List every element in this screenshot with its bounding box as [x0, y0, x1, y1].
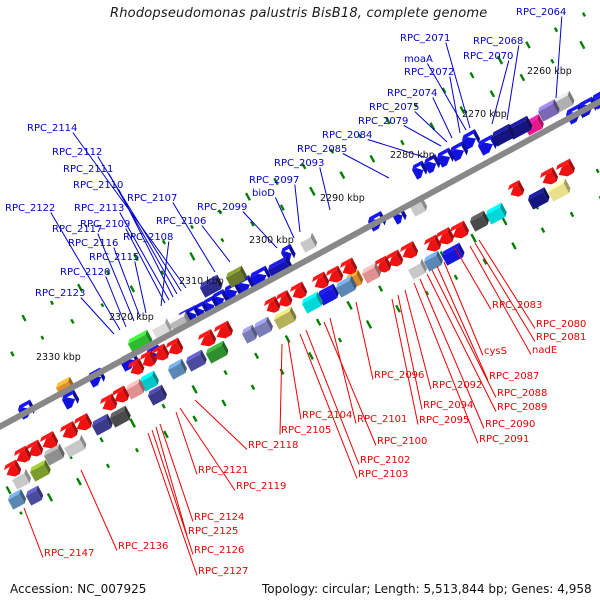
tick-mark	[521, 74, 524, 80]
leader-line	[444, 262, 483, 356]
reverse-gene-label[interactable]: RPC_2147	[44, 548, 94, 559]
reverse-gene-glyph[interactable]	[184, 350, 208, 372]
scale-marker-label: 2320 kbp	[109, 312, 154, 323]
scale-marker-label: 2260 kbp	[527, 66, 572, 77]
leader-line	[280, 344, 282, 435]
tick-mark	[252, 385, 254, 390]
forward-gene-label[interactable]: RPC_2079	[358, 116, 408, 127]
forward-gene-label[interactable]: RPC_2117	[52, 224, 102, 235]
leader-line	[148, 433, 197, 576]
leader-line	[275, 198, 294, 239]
scale-marker-label: 2290 kbp	[320, 193, 365, 204]
leader-line	[479, 240, 535, 329]
leader-line	[415, 112, 447, 143]
tick-mark	[526, 42, 529, 48]
tick-mark	[491, 91, 494, 97]
leader-line	[288, 340, 301, 420]
tick-mark	[107, 464, 109, 468]
tick-mark	[163, 404, 165, 408]
tick-mark	[512, 243, 515, 249]
tick-mark	[503, 218, 507, 225]
tick-mark	[341, 172, 345, 179]
reverse-gene-glyph[interactable]	[98, 394, 119, 414]
forward-gene-label[interactable]: RPC_2115	[89, 252, 139, 263]
tick-mark	[255, 353, 258, 359]
forward-gene-label[interactable]: RPC_2114	[27, 123, 77, 134]
reverse-gene-label[interactable]: RPC_2103	[358, 469, 408, 480]
tick-mark	[131, 286, 134, 292]
forward-gene-label[interactable]: RPC_2070	[463, 51, 513, 62]
tick-mark	[222, 400, 225, 406]
scale-marker-label: 2330 kbp	[36, 352, 81, 363]
tick-mark	[597, 169, 599, 172]
reverse-gene-label[interactable]: RPC_2127	[198, 566, 248, 577]
leader-line	[24, 508, 43, 558]
leader-line	[556, 17, 562, 99]
reverse-gene-label[interactable]: RPC_2080	[536, 319, 586, 330]
scale-marker-label: 2310 kbp	[179, 276, 224, 287]
tick-mark	[51, 301, 53, 305]
leader-line	[300, 334, 357, 479]
reverse-gene-label[interactable]: RPC_2090	[485, 419, 535, 430]
accession-text: Accession: NC_007925	[10, 582, 146, 596]
tick-mark	[224, 371, 226, 375]
tick-mark	[22, 315, 25, 321]
tick-mark	[41, 336, 43, 339]
reverse-gene-label[interactable]: RPC_2092	[432, 380, 482, 391]
reverse-gene-label[interactable]: RPC_2100	[377, 436, 427, 447]
reverse-gene-label[interactable]: cysS	[484, 346, 507, 357]
tick-mark	[551, 59, 553, 63]
genome-summary-text: Topology: circular; Length: 5,513,844 bp…	[262, 582, 592, 596]
reverse-gene-label[interactable]: RPC_2091	[479, 434, 529, 445]
reverse-gene-label[interactable]: RPC_2094	[423, 400, 473, 411]
reverse-gene-label[interactable]: RPC_2119	[236, 481, 286, 492]
forward-gene-label[interactable]: RPC_2120	[60, 267, 110, 278]
tick-mark	[193, 416, 196, 422]
reverse-gene-label[interactable]: RPC_2101	[357, 414, 407, 425]
tick-mark	[317, 319, 320, 325]
tick-mark	[246, 193, 250, 200]
leader-line	[356, 302, 373, 380]
leader-line	[343, 154, 389, 179]
reverse-gene-label[interactable]: RPC_2104	[302, 410, 352, 421]
reverse-gene-label[interactable]: RPC_2136	[118, 541, 168, 552]
forward-gene-label[interactable]: RPC_2085	[297, 144, 347, 155]
tick-mark	[583, 13, 585, 17]
reverse-gene-glyph[interactable]	[62, 435, 88, 458]
leader-line	[432, 270, 496, 398]
tick-mark	[11, 352, 13, 356]
reverse-gene-label[interactable]: RPC_2081	[536, 332, 586, 343]
reverse-gene-label[interactable]: RPC_2088	[497, 388, 547, 399]
reverse-gene-label[interactable]: RPC_2095	[419, 415, 469, 426]
forward-gene-label[interactable]: RPC_2064	[516, 7, 566, 18]
tick-mark	[102, 304, 104, 307]
tick-mark	[371, 155, 375, 162]
tick-mark	[455, 275, 457, 279]
leader-line	[330, 318, 356, 424]
reverse-gene-label[interactable]: RPC_2105	[281, 425, 331, 436]
scale-marker-label: 2300 kbp	[249, 235, 294, 246]
tick-mark	[471, 73, 474, 78]
tick-mark	[7, 487, 11, 494]
tick-mark	[190, 253, 194, 261]
reverse-gene-label[interactable]: RPC_2083	[492, 300, 542, 311]
leader-line	[156, 427, 187, 536]
forward-gene-label[interactable]: RPC_2099	[197, 202, 247, 213]
tick-mark	[555, 28, 557, 32]
tick-mark	[136, 448, 138, 452]
leader-line	[398, 295, 422, 410]
leader-line	[437, 266, 488, 381]
tick-mark	[48, 494, 52, 502]
tick-mark	[71, 319, 73, 323]
reverse-gene-label[interactable]: RPC_2102	[360, 455, 410, 466]
forward-gene-label[interactable]: moaA	[404, 54, 433, 65]
forward-gene-label[interactable]: RPC_2111	[63, 164, 113, 175]
reverse-gene-glyph[interactable]	[262, 296, 282, 316]
reverse-gene-label[interactable]: RPC_2087	[489, 371, 539, 382]
tick-mark	[347, 301, 351, 309]
reverse-gene-label[interactable]: RPC_2089	[497, 402, 547, 413]
forward-gene-label[interactable]: RPC_2075	[369, 102, 419, 113]
leader-line	[295, 185, 300, 233]
leader-line	[306, 330, 359, 465]
reverse-gene-label[interactable]: nadE	[532, 345, 557, 356]
reverse-gene-glyph[interactable]	[24, 486, 45, 506]
leader-line	[392, 299, 418, 425]
tick-mark	[193, 386, 197, 394]
forward-gene-label[interactable]: RPC_2108	[123, 232, 173, 243]
reverse-gene-label[interactable]: RPC_2125	[188, 526, 238, 537]
leader-line	[176, 412, 197, 475]
forward-gene-label[interactable]: RPC_2084	[322, 130, 372, 141]
leader-line	[135, 262, 146, 314]
forward-gene-label[interactable]: RPC_2106	[156, 216, 206, 227]
forward-gene-label[interactable]: RPC_2068	[473, 36, 523, 47]
tick-mark	[542, 228, 544, 233]
leader-line	[160, 424, 193, 522]
genome-map-viewer: Rhodopseudomonas palustris BisB18, compl…	[0, 0, 600, 600]
reverse-gene-glyph[interactable]	[422, 235, 443, 255]
forward-gene-label[interactable]: RPC_2074	[387, 88, 437, 99]
tick-mark	[367, 321, 371, 329]
tick-mark	[221, 238, 223, 241]
genome-map-canvas[interactable]: 2260 kbp2270 kbp2280 kbp2290 kbp2300 kbp…	[0, 0, 600, 600]
tick-mark	[20, 512, 21, 515]
tick-mark	[401, 140, 403, 145]
forward-gene-label[interactable]: RPC_2113	[74, 203, 124, 214]
leader-line	[475, 243, 535, 342]
forward-gene-label[interactable]: RPC_2107	[127, 193, 177, 204]
forward-gene-label[interactable]: RPC_2123	[35, 288, 85, 299]
forward-gene-label[interactable]: RPC_2093	[274, 158, 324, 169]
forward-gene-label[interactable]: RPC_2116	[68, 238, 118, 249]
leader-line	[152, 430, 193, 555]
forward-gene-label[interactable]: bioD	[252, 188, 275, 199]
reverse-gene-glyph[interactable]	[166, 359, 188, 380]
forward-gene-label[interactable]: RPC_2112	[52, 147, 102, 158]
reverse-gene-glyph[interactable]	[506, 180, 526, 200]
forward-gene-label[interactable]: RPC_2122	[5, 203, 55, 214]
tick-mark	[571, 212, 573, 216]
tick-mark	[100, 438, 102, 442]
tick-mark	[396, 305, 400, 312]
forward-gene-label[interactable]: RPC_2110	[73, 180, 123, 191]
reverse-gene-glyph[interactable]	[526, 187, 551, 210]
scale-marker-label: 2270 kbp	[462, 109, 507, 120]
forward-gene-label[interactable]: RPC_2072	[404, 67, 454, 78]
tick-mark	[310, 187, 314, 195]
reverse-gene-label[interactable]: RPC_2124	[194, 512, 244, 523]
reverse-gene-label[interactable]: RPC_2118	[248, 440, 298, 451]
reverse-gene-label[interactable]: RPC_2121	[198, 465, 248, 476]
reverse-gene-label[interactable]: RPC_2126	[194, 545, 244, 556]
tick-mark	[339, 338, 341, 342]
tick-mark	[471, 234, 475, 242]
forward-gene-label[interactable]: RPC_2097	[249, 175, 299, 186]
tick-mark	[130, 419, 135, 428]
reverse-gene-label[interactable]: RPC_2096	[374, 370, 424, 381]
leader-line-layer	[24, 17, 562, 576]
leader-line	[404, 126, 441, 147]
tick-mark	[286, 336, 290, 343]
tick-mark	[77, 478, 81, 485]
leader-line	[81, 470, 117, 551]
forward-gene-glyph[interactable]	[298, 233, 319, 253]
leader-line	[324, 322, 376, 446]
scale-marker-label: 2280 kbp	[390, 150, 435, 161]
tick-mark	[379, 286, 382, 291]
forward-gene-label[interactable]: RPC_2071	[400, 33, 450, 44]
tick-mark	[580, 41, 584, 48]
